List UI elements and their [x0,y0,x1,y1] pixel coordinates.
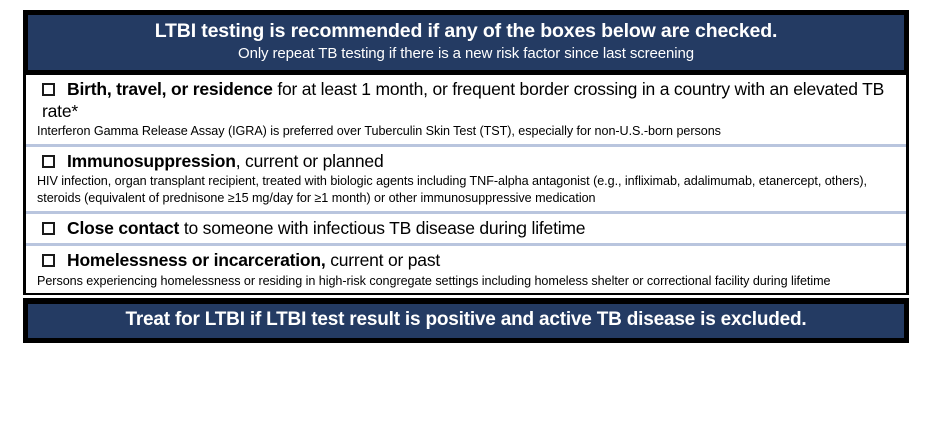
criterion-line: Immunosuppression, current or planned [36,150,896,172]
ltbi-testing-checklist-card: LTBI testing is recommended if any of th… [23,10,909,419]
criterion-bold-label: Close contact [67,218,179,238]
criterion-line: Birth, travel, or residence for at least… [36,78,896,123]
criterion-rest-label: to someone with infectious TB disease du… [179,218,585,238]
checkbox-unchecked-icon[interactable] [42,254,55,267]
footer-text: Treat for LTBI if LTBI test result is po… [36,308,896,333]
criterion-detail: Persons experiencing homelessness or res… [36,273,896,290]
header-banner: LTBI testing is recommended if any of th… [23,10,909,75]
criterion-row[interactable]: Birth, travel, or residence for at least… [26,75,906,145]
criterion-row[interactable]: Homelessness or incarceration, current o… [26,243,906,293]
checkbox-unchecked-icon[interactable] [42,222,55,235]
criterion-line: Close contact to someone with infectious… [36,217,896,239]
criterion-bold-label: Birth, travel, or residence [67,79,273,99]
header-subtitle: Only repeat TB testing if there is a new… [36,44,896,63]
criterion-detail: HIV infection, organ transplant recipien… [36,173,896,206]
criterion-line: Homelessness or incarceration, current o… [36,249,896,271]
checkbox-unchecked-icon[interactable] [42,155,55,168]
header-title: LTBI testing is recommended if any of th… [36,19,896,44]
checkbox-unchecked-icon[interactable] [42,83,55,96]
criterion-rest-label: current or past [326,250,441,270]
criterion-row[interactable]: Immunosuppression, current or planned HI… [26,144,906,211]
criterion-bold-label: Immunosuppression [67,151,236,171]
criterion-detail: Interferon Gamma Release Assay (IGRA) is… [36,123,896,140]
criteria-list: Birth, travel, or residence for at least… [23,75,909,296]
criterion-row[interactable]: Close contact to someone with infectious… [26,211,906,243]
footer-banner: Treat for LTBI if LTBI test result is po… [23,298,909,343]
criterion-rest-label: , current or planned [236,151,384,171]
criterion-bold-label: Homelessness or incarceration, [67,250,326,270]
